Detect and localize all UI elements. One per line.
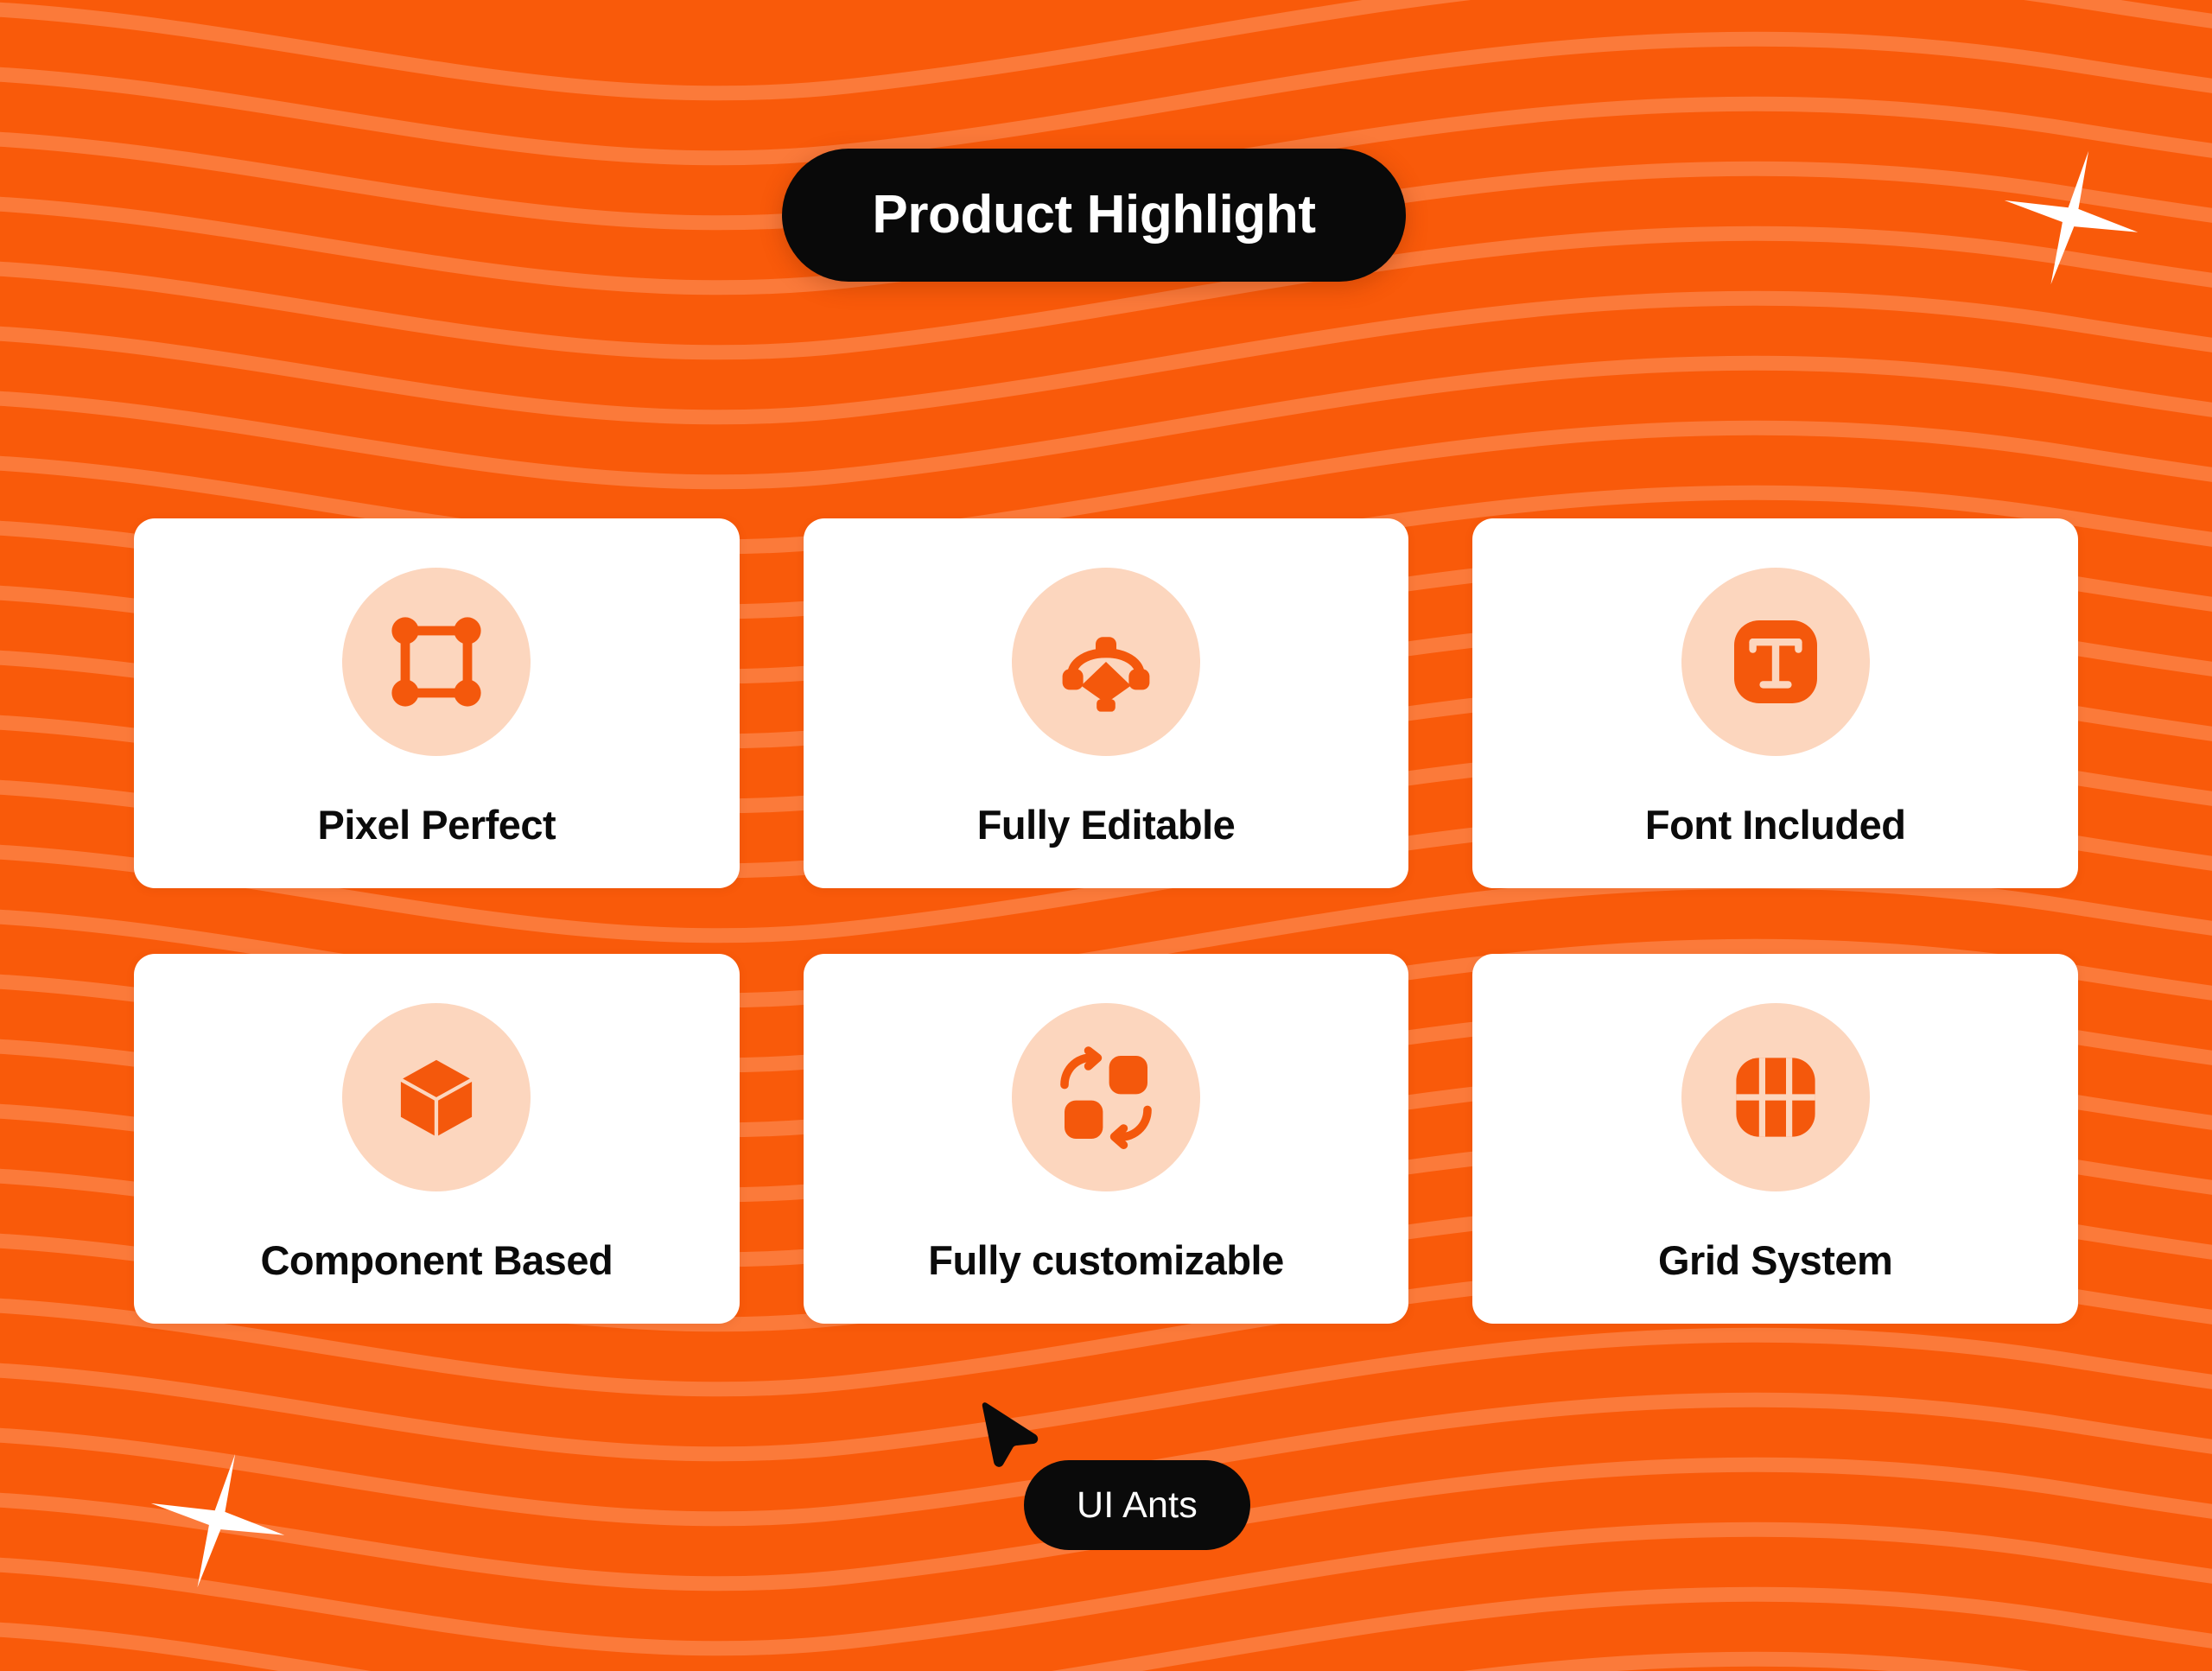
icon-badge — [342, 1003, 531, 1191]
feature-card-fully-editable[interactable]: Fully Editable — [804, 518, 1409, 888]
feature-card-pixel-perfect[interactable]: Pixel Perfect — [134, 518, 740, 888]
feature-card-component-based[interactable]: Component Based — [134, 954, 740, 1324]
page-title: Product Highlight — [872, 188, 1315, 242]
icon-badge — [342, 568, 531, 756]
cursor-arrow-icon — [980, 1400, 1040, 1472]
grid-layout-icon — [1724, 1045, 1827, 1149]
icon-badge — [1681, 568, 1870, 756]
feature-card-label: Fully Editable — [977, 804, 1236, 845]
feature-card-label: Grid System — [1658, 1240, 1892, 1280]
feature-card-label: Fully customizable — [928, 1240, 1283, 1280]
feature-card-grid-system[interactable]: Grid System — [1472, 954, 2078, 1324]
feature-card-label: Pixel Perfect — [317, 804, 556, 845]
icon-badge — [1681, 1003, 1870, 1191]
feature-card-fully-customizable[interactable]: Fully customizable — [804, 954, 1409, 1324]
sparkle-icon — [1999, 145, 2144, 290]
brand-label: UI Ants — [1077, 1487, 1198, 1524]
feature-card-grid: Pixel Perfect Fully Editable — [134, 518, 2078, 1324]
pen-tool-icon — [1054, 610, 1158, 714]
cube-3d-icon — [385, 1045, 488, 1149]
text-type-icon — [1724, 610, 1827, 714]
feature-card-label: Component Based — [260, 1240, 613, 1280]
feature-card-label: Font Included — [1645, 804, 1906, 845]
vector-nodes-icon — [385, 610, 488, 714]
poster-canvas: Product Highlight Pixel Perfect — [0, 0, 2212, 1671]
sparkle-icon — [145, 1448, 290, 1593]
icon-badge — [1012, 1003, 1200, 1191]
feature-card-font-included[interactable]: Font Included — [1472, 518, 2078, 888]
icon-badge — [1012, 568, 1200, 756]
page-title-pill: Product Highlight — [782, 149, 1406, 282]
swap-shapes-icon — [1054, 1045, 1158, 1149]
brand-badge: UI Ants — [1024, 1460, 1250, 1550]
